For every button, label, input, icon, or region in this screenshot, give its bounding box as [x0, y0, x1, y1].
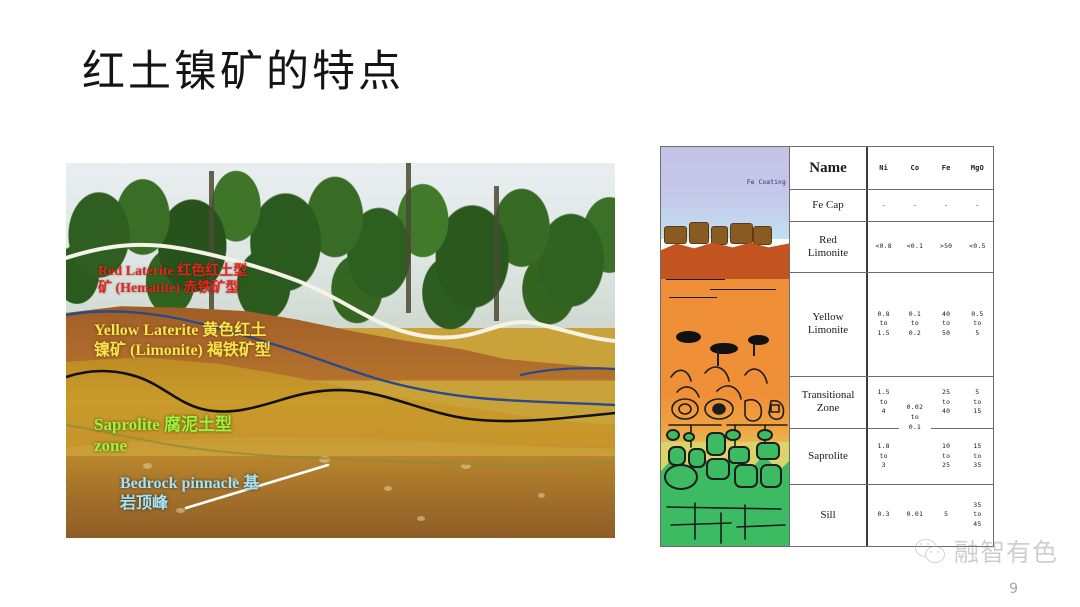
presentation-slide: 红土镍矿的特点	[0, 0, 1080, 607]
row-label-yellow-limonite: Yellow Limonite	[790, 273, 868, 376]
row-values: 0.8 to 1.5 0.1 to 0.2 40 to 50 0.5 to 5	[868, 273, 993, 376]
cell-fe: -	[931, 190, 962, 222]
table-row: Transitional Zone 1.5 to 4 25 to 40 5 to…	[790, 377, 993, 429]
cell-ni: 1.5 to 4	[868, 377, 899, 429]
annotation-red-laterite: Red Laterite 红色红土型 矿 (Hematite) 赤铁矿型	[98, 263, 247, 297]
laterite-profile-figure: Fe Coating	[660, 146, 994, 547]
profile-texture-overlay	[661, 147, 789, 546]
cell-fe: 10 to 25	[931, 429, 962, 483]
row-label-saprolite: Saprolite	[790, 429, 868, 483]
annotation-saprolite: Saprolite 腐泥土型 zone	[94, 415, 232, 456]
cell-ni: 0.8 to 1.5	[868, 273, 899, 376]
row-values: 1.5 to 4 25 to 40 5 to 15	[868, 377, 993, 429]
wechat-bubble-small	[925, 546, 945, 563]
cell-co: -	[899, 190, 930, 222]
table-row: Saprolite 1.8 to 3 0.02 to 0.1 10 to 25 …	[790, 429, 993, 484]
row-values: <0.8 <0.1 >50 <0.5	[868, 222, 993, 272]
cell-fe: 40 to 50	[931, 273, 962, 376]
secondary-boundary-line	[521, 368, 615, 375]
cell-mgo: -	[962, 190, 993, 222]
cell-co: 0.1 to 0.2	[899, 273, 930, 376]
cell-mgo: <0.5	[962, 222, 993, 272]
cell-mgo: 15 to 35	[962, 429, 993, 483]
cell-ni: -	[868, 190, 899, 222]
cell-fe: 25 to 40	[931, 377, 962, 429]
table-header-row: Name Ni Co Fe MgO	[790, 147, 993, 190]
cell-mgo: 0.5 to 5	[962, 273, 993, 376]
page-title: 红土镍矿的特点	[82, 48, 404, 97]
page-number: 9	[1009, 581, 1018, 597]
cell-co-merged: 0.02 to 0.1	[899, 403, 930, 483]
annotation-bedrock-pinnacle: Bedrock pinnacle 基 岩顶峰	[120, 474, 259, 513]
cell-ni: 0.3	[868, 485, 899, 546]
soil-profile-diagram: Fe Coating	[661, 147, 790, 546]
cell-ni: 1.8 to 3	[868, 429, 899, 483]
row-values: 1.8 to 3 0.02 to 0.1 10 to 25 15 to 35	[868, 429, 993, 483]
laterite-mine-photo: Red Laterite 红色红土型 矿 (Hematite) 赤铁矿型 Yel…	[66, 163, 615, 538]
column-header-ni: Ni	[868, 147, 899, 189]
row-label-fe-cap: Fe Cap	[790, 190, 868, 222]
cell-ni: <0.8	[868, 222, 899, 272]
laterite-composition-table: Name Ni Co Fe MgO Fe Cap - - - - Red L	[790, 147, 993, 546]
cell-co: <0.1	[899, 222, 930, 272]
yellow-saprolite-boundary-line	[66, 371, 615, 421]
row-label-transitional-zone: Transitional Zone	[790, 377, 868, 429]
photo-content: Red Laterite 红色红土型 矿 (Hematite) 赤铁矿型 Yel…	[66, 163, 615, 538]
table-row: Yellow Limonite 0.8 to 1.5 0.1 to 0.2 40…	[790, 273, 993, 377]
table-header-columns: Ni Co Fe MgO	[868, 147, 993, 189]
row-label-sill: Sill	[790, 485, 868, 546]
table-row: Red Limonite <0.8 <0.1 >50 <0.5	[790, 222, 993, 273]
row-label-red-limonite: Red Limonite	[790, 222, 868, 272]
cell-mgo: 5 to 15	[962, 377, 993, 429]
table-row: Fe Cap - - - -	[790, 190, 993, 223]
watermark-text: 融智有色	[954, 533, 1058, 569]
column-header-co: Co	[899, 147, 930, 189]
row-values: - - - -	[868, 190, 993, 222]
table-header-name: Name	[790, 147, 868, 189]
column-header-mgo: MgO	[962, 147, 993, 189]
watermark: 融智有色	[915, 533, 1058, 569]
column-header-fe: Fe	[931, 147, 962, 189]
cell-fe: >50	[931, 222, 962, 272]
wechat-icon	[915, 539, 945, 563]
annotation-yellow-laterite: Yellow Laterite 黄色红土 镍矿 (Limonite) 褐铁矿型	[94, 321, 271, 360]
